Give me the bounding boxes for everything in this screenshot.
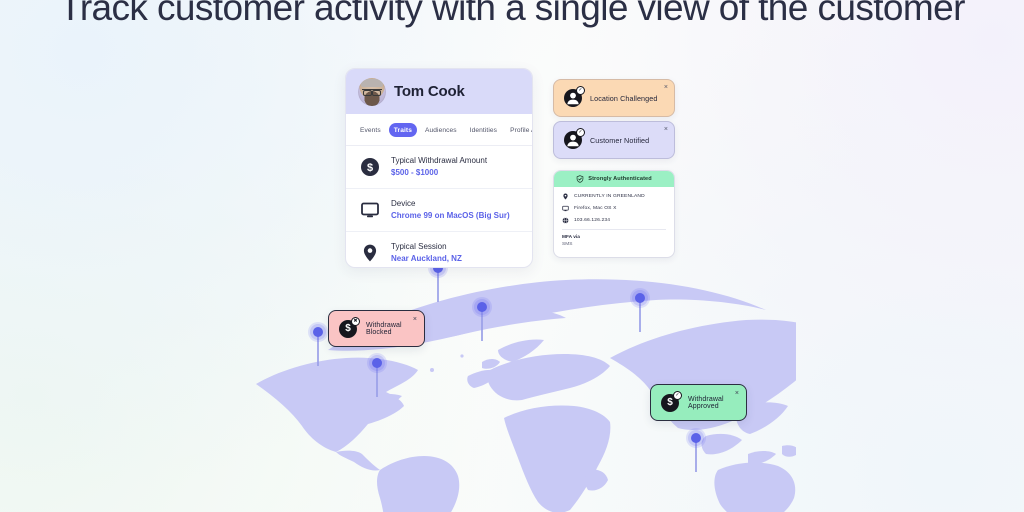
monitor-icon xyxy=(360,200,380,220)
trait-text: Typical Withdrawal Amount $500 - $1000 xyxy=(391,155,487,179)
check-badge-icon: ✓ xyxy=(673,391,682,400)
svg-text:$: $ xyxy=(367,162,373,174)
profile-tabs: Events Traits Audiences Identities Profi… xyxy=(346,114,532,146)
close-icon[interactable]: × xyxy=(664,126,668,133)
pin-dot xyxy=(691,433,701,443)
pin-dot xyxy=(313,327,323,337)
profile-header: Tom Cook xyxy=(346,69,532,114)
location-pin-icon xyxy=(562,193,569,200)
person-check-badge-icon: ✓ xyxy=(564,131,582,149)
trait-label: Typical Session xyxy=(391,241,462,253)
check-badge-icon: ✓ xyxy=(576,128,585,137)
notification-label: Location Challenged xyxy=(590,94,657,103)
trait-value: Chrome 99 on MacOS (Big Sur) xyxy=(391,210,510,222)
trait-row: Typical Session Near Auckland, NZ xyxy=(346,232,532,268)
globe-icon xyxy=(562,217,569,224)
trait-label: Typical Withdrawal Amount xyxy=(391,155,487,167)
trait-text: Typical Session Near Auckland, NZ xyxy=(391,241,462,265)
avatar-hair xyxy=(361,79,383,87)
notification-label: Customer Notified xyxy=(590,136,649,145)
notification-customer-notified[interactable]: ✓ Customer Notified × xyxy=(553,121,675,159)
notification-location-challenged[interactable]: ✓ Location Challenged × xyxy=(553,79,675,117)
trait-text: Device Chrome 99 on MacOS (Big Sur) xyxy=(391,198,510,222)
monitor-icon xyxy=(562,205,569,212)
auth-card-header: Strongly Authenticated xyxy=(554,171,674,187)
strongly-authenticated-card: Strongly Authenticated CURRENTLY IN GREE… xyxy=(553,170,675,258)
pin-dot xyxy=(372,358,382,368)
callout-withdrawal-blocked[interactable]: $ ✖ Withdrawal Blocked × xyxy=(328,310,425,347)
auth-line-device: Firefox, Mac OS X xyxy=(562,205,666,212)
auth-card-body: CURRENTLY IN GREENLAND Firefox, Mac OS X… xyxy=(554,187,674,247)
dollar-coin-badge-icon: $ ✓ xyxy=(661,394,679,412)
trait-row: Device Chrome 99 on MacOS (Big Sur) xyxy=(346,189,532,232)
trait-label: Device xyxy=(391,198,510,210)
close-icon[interactable]: × xyxy=(735,390,739,397)
pin-dot xyxy=(635,293,645,303)
callout-label: Withdrawal Blocked xyxy=(366,322,414,336)
close-icon[interactable]: × xyxy=(413,316,417,323)
auth-line-text: 103.66.126.234 xyxy=(574,218,610,223)
customer-profile-card: Tom Cook Events Traits Audiences Identit… xyxy=(345,68,533,268)
shield-check-icon xyxy=(576,170,584,188)
auth-card-title: Strongly Authenticated xyxy=(588,176,652,182)
check-badge-icon: ✓ xyxy=(576,86,585,95)
dollar-coin-badge-icon: $ ✖ xyxy=(339,320,357,338)
map-pin-australia[interactable] xyxy=(686,428,706,472)
person-check-badge-icon: ✓ xyxy=(564,89,582,107)
block-badge-icon: ✖ xyxy=(351,317,360,326)
pin-dot xyxy=(477,302,487,312)
callout-label: Withdrawal Approved xyxy=(688,396,736,410)
callout-withdrawal-approved[interactable]: $ ✓ Withdrawal Approved × xyxy=(650,384,747,421)
map-pin-south-america[interactable] xyxy=(367,353,387,397)
map-pin-asia[interactable] xyxy=(630,288,650,332)
dollar-coin-icon: $ xyxy=(360,157,380,177)
tab-audiences[interactable]: Audiences xyxy=(420,123,462,137)
page-title: Track customer activity with a single vi… xyxy=(0,0,1024,30)
trait-value: $500 - $1000 xyxy=(391,167,487,179)
trait-value: Near Auckland, NZ xyxy=(391,253,462,265)
trait-row: $ Typical Withdrawal Amount $500 - $1000 xyxy=(346,146,532,189)
auth-line-text: CURRENTLY IN GREENLAND xyxy=(574,194,645,199)
avatar xyxy=(358,78,386,106)
page-title-name: Tom Cook xyxy=(394,83,465,100)
tab-traits[interactable]: Traits xyxy=(389,123,417,137)
auth-line-text: Firefox, Mac OS X xyxy=(574,206,617,211)
mfa-label: MFA via xyxy=(562,235,666,240)
tab-profile-api[interactable]: Profile API xyxy=(505,123,533,137)
divider xyxy=(562,229,666,230)
map-pin-europe[interactable] xyxy=(472,297,492,341)
map-pin-west-canada[interactable] xyxy=(308,322,328,366)
close-icon[interactable]: × xyxy=(664,84,668,91)
auth-line-ip: 103.66.126.234 xyxy=(562,217,666,224)
location-pin-icon xyxy=(360,243,380,263)
avatar-glasses xyxy=(362,89,382,93)
auth-line-location: CURRENTLY IN GREENLAND xyxy=(562,193,666,200)
tab-identities[interactable]: Identities xyxy=(465,123,502,137)
mfa-value: SMS xyxy=(562,242,666,247)
tab-events[interactable]: Events xyxy=(355,123,386,137)
